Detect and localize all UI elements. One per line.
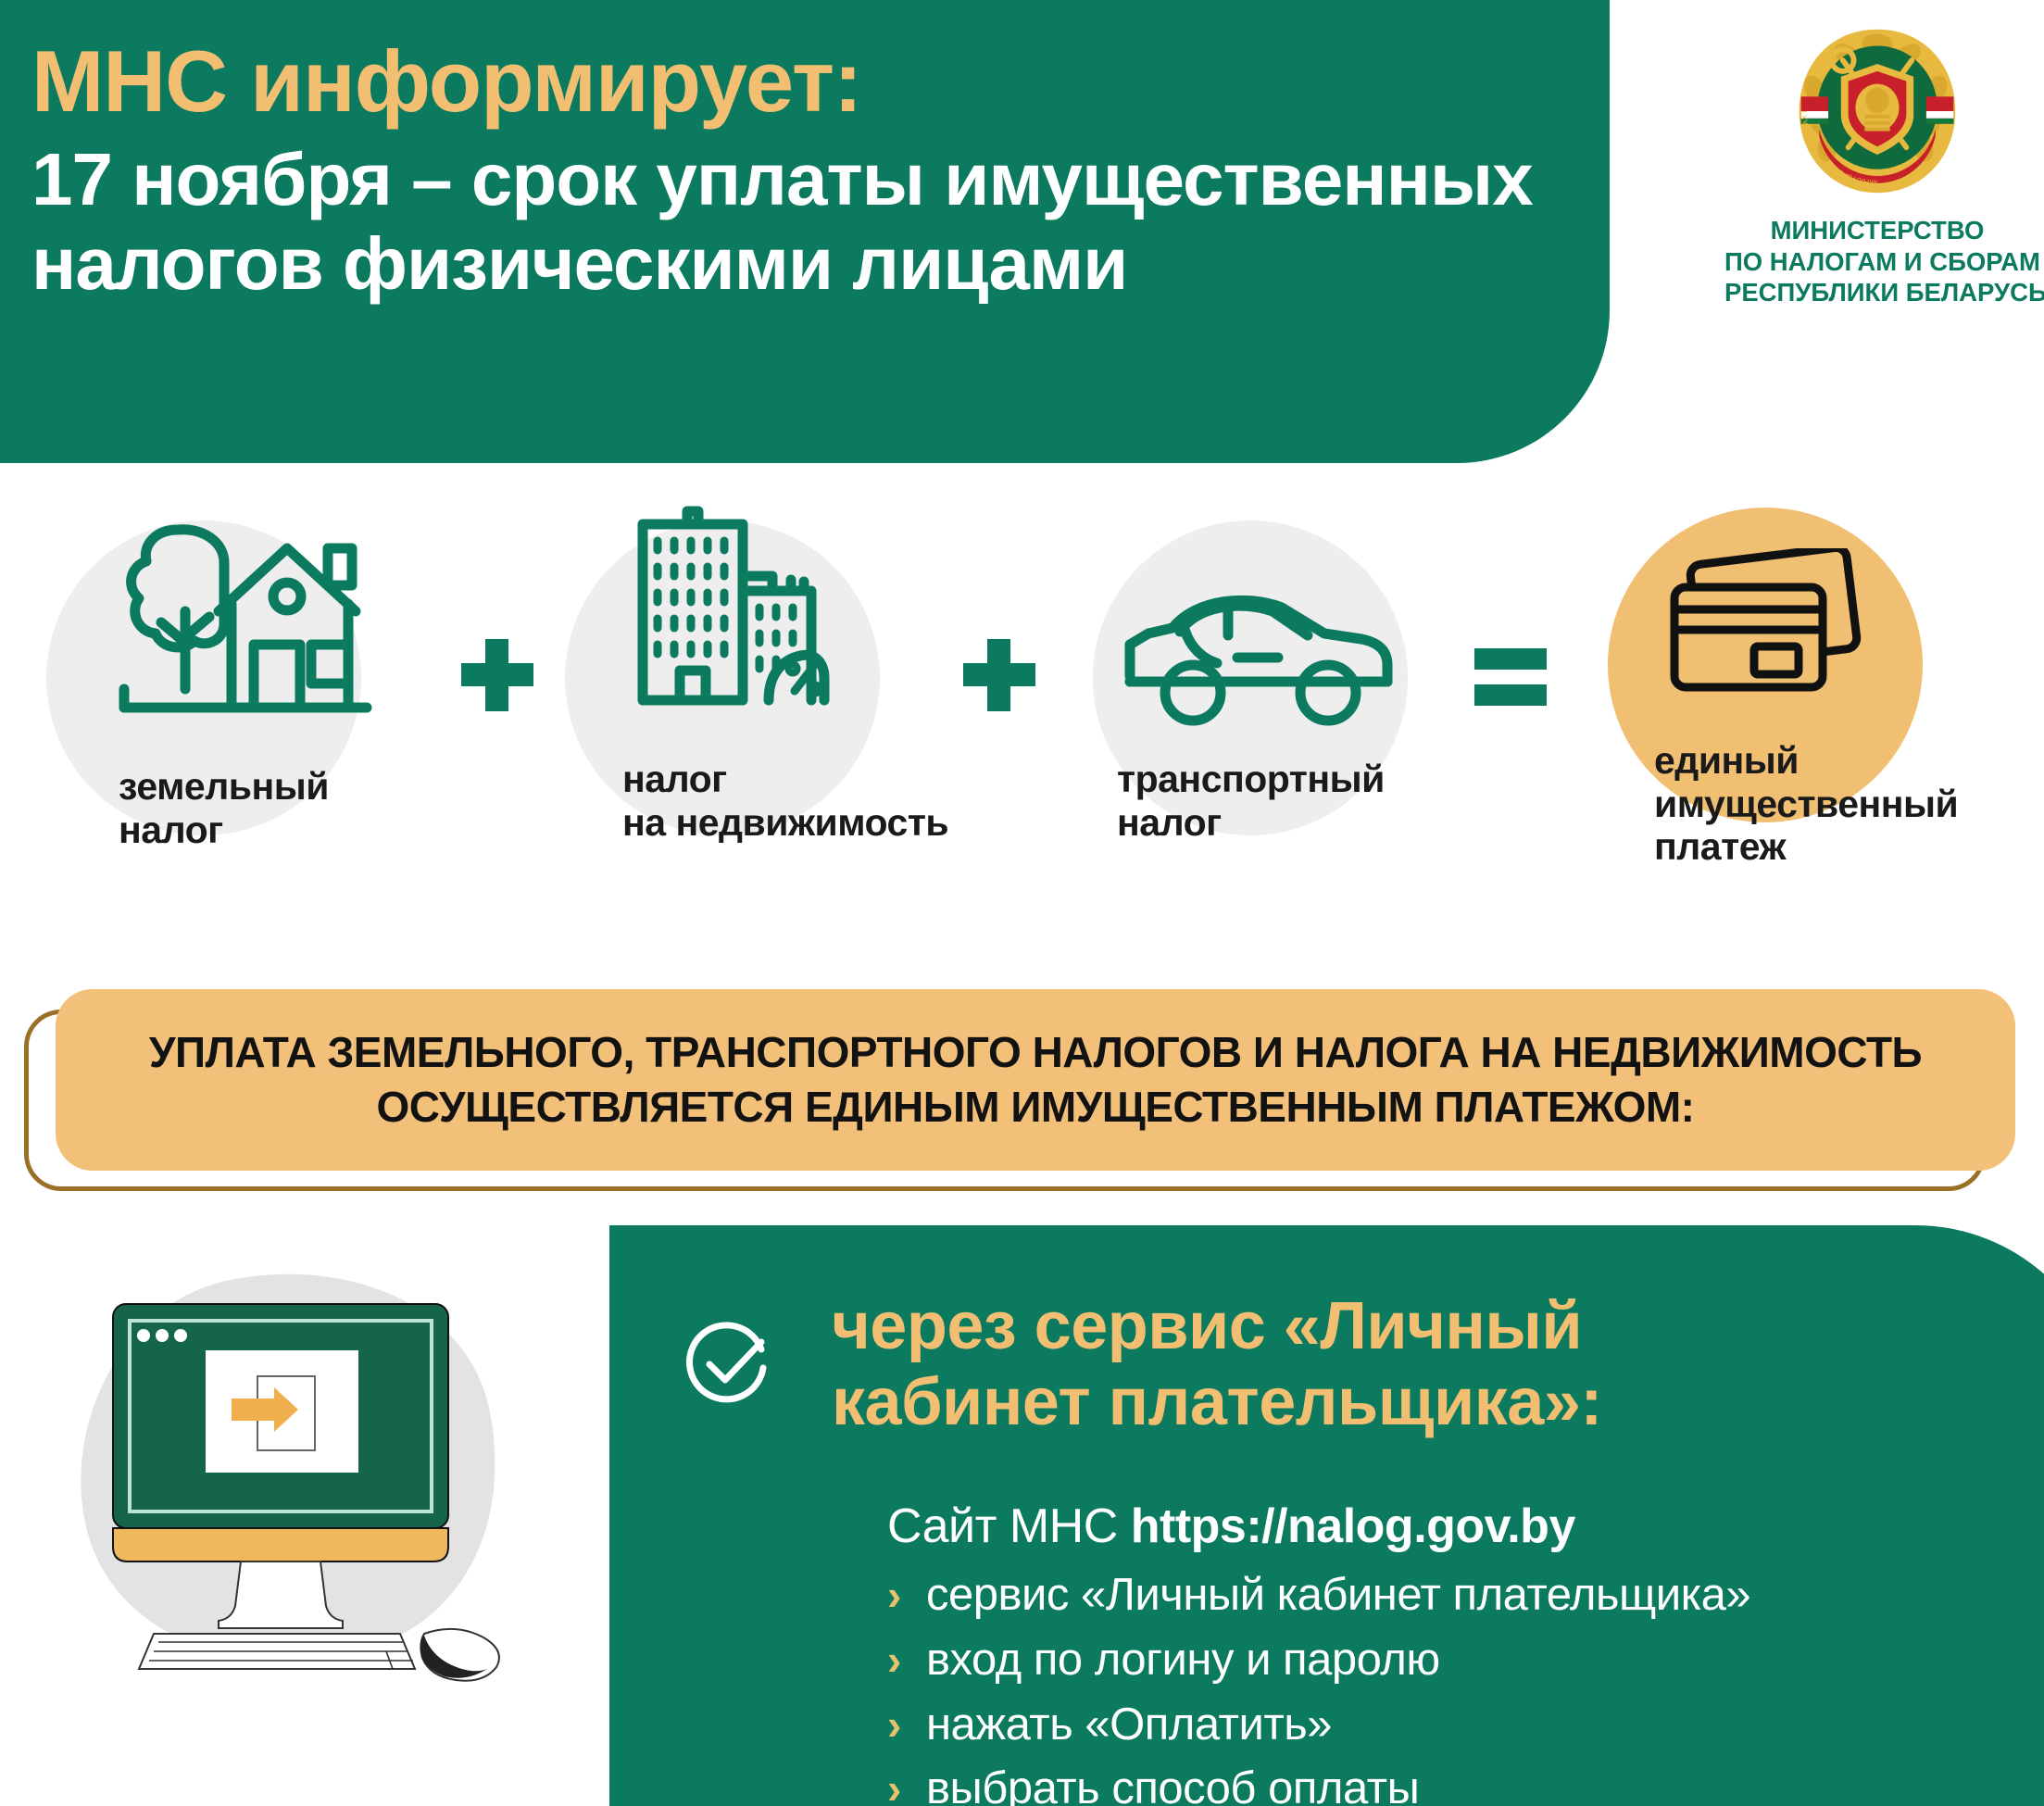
property-tax-label: налог на недвижимость (622, 758, 948, 844)
chevron-right-icon: › (887, 1638, 926, 1681)
service-heading-line-2: кабинет плательщика»: (832, 1364, 1850, 1440)
site-url[interactable]: https://nalog.gov.by (1131, 1499, 1575, 1553)
desktop-computer-illustration (56, 1241, 611, 1797)
site-prefix: Сайт МНС (887, 1499, 1118, 1553)
tax-item-transport: транспортный налог (1093, 491, 1482, 908)
tax-item-single-payment: единый имущественный платеж (1608, 491, 2043, 908)
ministry-branding: МІНІСТЭРСТВА ПА ПАДАТКАХ І ЗБОРАХ МИНИСТ… (1724, 20, 2030, 308)
ministry-name-line-3: РЕСПУБЛИКИ БЕЛАРУСЬ (1724, 277, 2030, 308)
land-tax-label: земельный налог (119, 765, 329, 851)
credit-cards-icon (1665, 548, 1869, 710)
plus-operator-2 (963, 639, 1035, 711)
property-tax-label-line-1: налог (622, 758, 948, 801)
land-tax-label-line-1: земельный (119, 765, 329, 809)
site-line: Сайт МНС https://nalog.gov.by (887, 1499, 1575, 1554)
house-with-tree-icon (109, 508, 378, 734)
single-payment-label: единый имущественный платеж (1654, 739, 1958, 869)
payment-banner-line-1: УПЛАТА ЗЕМЕЛЬНОГО, ТРАНСПОРТНОГО НАЛОГОВ… (149, 1025, 1922, 1080)
service-panel: через сервис «Личный кабинет плательщика… (609, 1225, 2044, 1806)
service-heading: через сервис «Личный кабинет плательщика… (832, 1288, 1850, 1440)
single-payment-label-line-1: единый (1654, 739, 1958, 783)
page-title-line-1: 17 ноября – срок уплаты имущественных (31, 137, 1569, 221)
payment-banner-line-2: ОСУЩЕСТВЛЯЕТСЯ ЕДИНЫМ ИМУЩЕСТВЕННЫМ ПЛАТ… (377, 1080, 1695, 1135)
land-tax-label-line-2: налог (119, 809, 329, 852)
service-heading-line-1: через сервис «Личный (832, 1288, 1850, 1364)
list-item: › вход по логину и паролю (887, 1633, 1980, 1688)
step-text: выбрать способ оплаты (926, 1762, 1419, 1806)
page-title-line-2: налогов физическими лицами (31, 221, 1569, 306)
page-title: 17 ноября – срок уплаты имущественных на… (31, 137, 1569, 306)
ministry-name-line-2: ПО НАЛОГАМ И СБОРАМ (1724, 246, 2030, 278)
step-text: сервис «Личный кабинет плательщика» (926, 1568, 1750, 1624)
ministry-name: МИНИСТЕРСТВО ПО НАЛОГАМ И СБОРАМ РЕСПУБЛ… (1724, 215, 2030, 308)
ministry-emblem-icon: МІНІСТЭРСТВА ПА ПАДАТКАХ І ЗБОРАХ (1787, 20, 1968, 202)
infographic-poster: МНС информирует: 17 ноября – срок уплаты… (0, 0, 2044, 1806)
transport-tax-label-line-1: транспортный (1117, 758, 1385, 801)
property-tax-label-line-2: на недвижимость (622, 801, 948, 845)
equals-operator (1474, 648, 1547, 706)
payment-banner: УПЛАТА ЗЕМЕЛЬНОГО, ТРАНСПОРТНОГО НАЛОГОВ… (24, 989, 2015, 1202)
chevron-right-icon: › (887, 1574, 926, 1616)
transport-tax-label-line-2: налог (1117, 801, 1385, 845)
tax-formula-row: земельный налог (0, 491, 2044, 908)
tax-item-property: налог на недвижимость (565, 491, 954, 908)
plus-operator-1 (461, 639, 533, 711)
header-kicker: МНС информирует: (31, 37, 1569, 126)
list-item: › сервис «Личный кабинет плательщика» (887, 1568, 1980, 1624)
buildings-percent-icon (619, 500, 869, 736)
single-payment-label-line-3: платеж (1654, 825, 1958, 869)
ministry-name-line-1: МИНИСТЕРСТВО (1724, 215, 2030, 246)
check-circle-icon (683, 1318, 772, 1407)
tax-item-land: земельный налог (46, 491, 435, 908)
payment-banner-body: УПЛАТА ЗЕМЕЛЬНОГО, ТРАНСПОРТНОГО НАЛОГОВ… (56, 989, 2015, 1171)
list-item: › выбрать способ оплаты (887, 1762, 1980, 1806)
header-title-block: МНС информирует: 17 ноября – срок уплаты… (31, 37, 1569, 306)
transport-tax-label: транспортный налог (1117, 758, 1385, 844)
step-text: вход по логину и паролю (926, 1633, 1440, 1688)
single-payment-label-line-2: имущественный (1654, 783, 1958, 826)
car-icon (1119, 591, 1397, 744)
header-panel: МНС информирует: 17 ноября – срок уплаты… (0, 0, 1610, 463)
chevron-right-icon: › (887, 1703, 926, 1746)
service-steps-list: › сервис «Личный кабинет плательщика» › … (887, 1568, 1980, 1806)
chevron-right-icon: › (887, 1767, 926, 1806)
list-item: › нажать «Оплатить» (887, 1698, 1980, 1753)
step-text: нажать «Оплатить» (926, 1698, 1332, 1753)
